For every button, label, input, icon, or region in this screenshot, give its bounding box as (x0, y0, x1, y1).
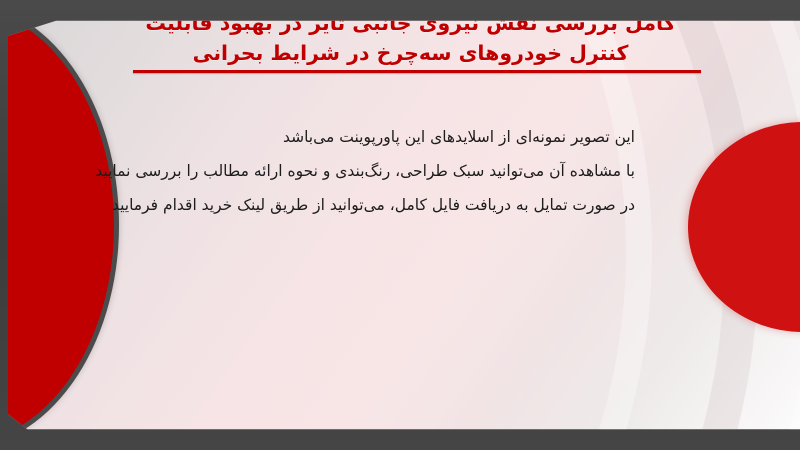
slide-page: کامل بررسی نقش نیروی جانبی تایر در بهبود… (0, 0, 800, 450)
slide-body-text: این تصویر نمونه‌ای از اسلایدهای این پاور… (165, 120, 635, 222)
body-line-3: در صورت تمایل به دریافت فایل کامل، می‌تو… (165, 188, 635, 222)
title-line-2: کنترل خودروهای سه‌چرخ در شرایط بحرانی (118, 38, 703, 68)
presentation-slide: کامل بررسی نقش نیروی جانبی تایر در بهبود… (0, 0, 800, 450)
body-line-2: با مشاهده آن می‌توانید سبک طراحی، رنگ‌بن… (165, 154, 635, 188)
body-line-1: این تصویر نمونه‌ای از اسلایدهای این پاور… (165, 120, 635, 154)
title-underline (133, 70, 701, 73)
